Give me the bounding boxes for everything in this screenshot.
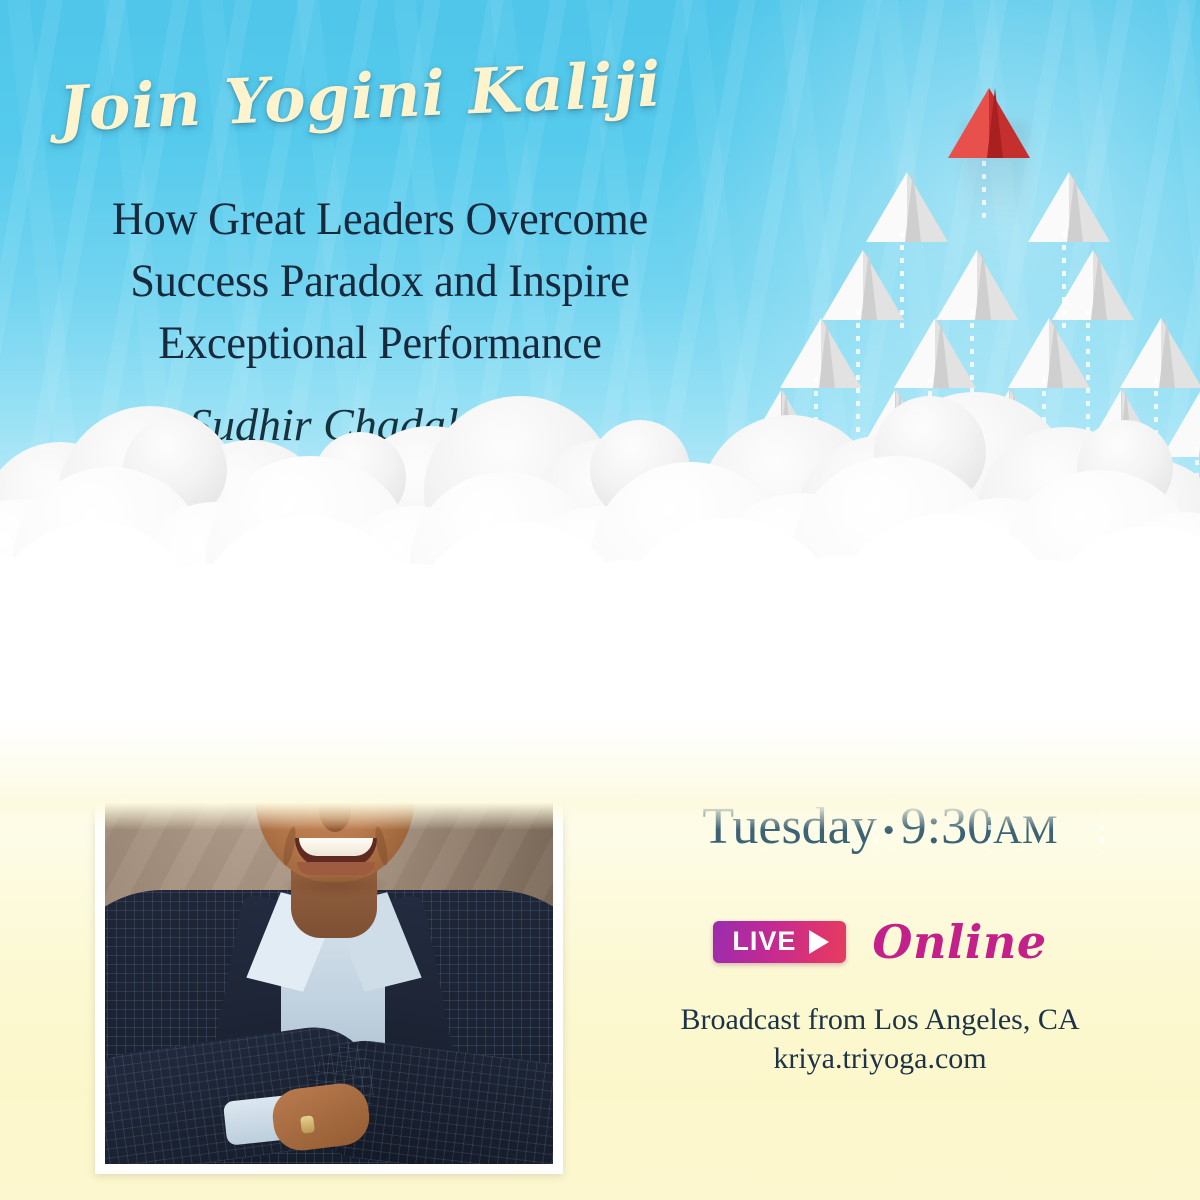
- page-title: How Great Leaders Overcome Success Parad…: [60, 188, 699, 374]
- airplane-keel: [987, 88, 1003, 158]
- lead-paper-airplane: [948, 88, 1030, 158]
- online-label: Online: [872, 915, 1046, 969]
- play-icon: [809, 930, 829, 954]
- title-line-2: Success Paradox and Inspire: [60, 250, 699, 312]
- website-url[interactable]: kriya.triyoga.com: [620, 1039, 1140, 1078]
- live-online-row: LIVE Online: [620, 915, 1140, 969]
- title-line-1: How Great Leaders Overcome: [60, 188, 699, 250]
- live-badge[interactable]: LIVE: [713, 921, 846, 963]
- title-line-3: Exceptional Performance: [60, 312, 699, 374]
- footer-info: Broadcast from Los Angeles, CA kriya.tri…: [620, 1000, 1140, 1078]
- airplane-left-wing: [948, 88, 989, 158]
- chin-shadow: [281, 872, 391, 898]
- teeth: [299, 838, 373, 856]
- airplane-contrail: [1062, 232, 1066, 336]
- airplane-contrail: [900, 232, 904, 336]
- cloud-to-cream-fade: [0, 720, 1200, 830]
- live-badge-label: LIVE: [732, 928, 796, 955]
- broadcast-location: Broadcast from Los Angeles, CA: [620, 1000, 1140, 1039]
- event-poster: Join Yogini Kaliji How Great Leaders Ove…: [0, 0, 1200, 1200]
- ring: [300, 1115, 315, 1133]
- airplane-contrail: [1086, 310, 1090, 448]
- airplane-contrail: [856, 310, 860, 448]
